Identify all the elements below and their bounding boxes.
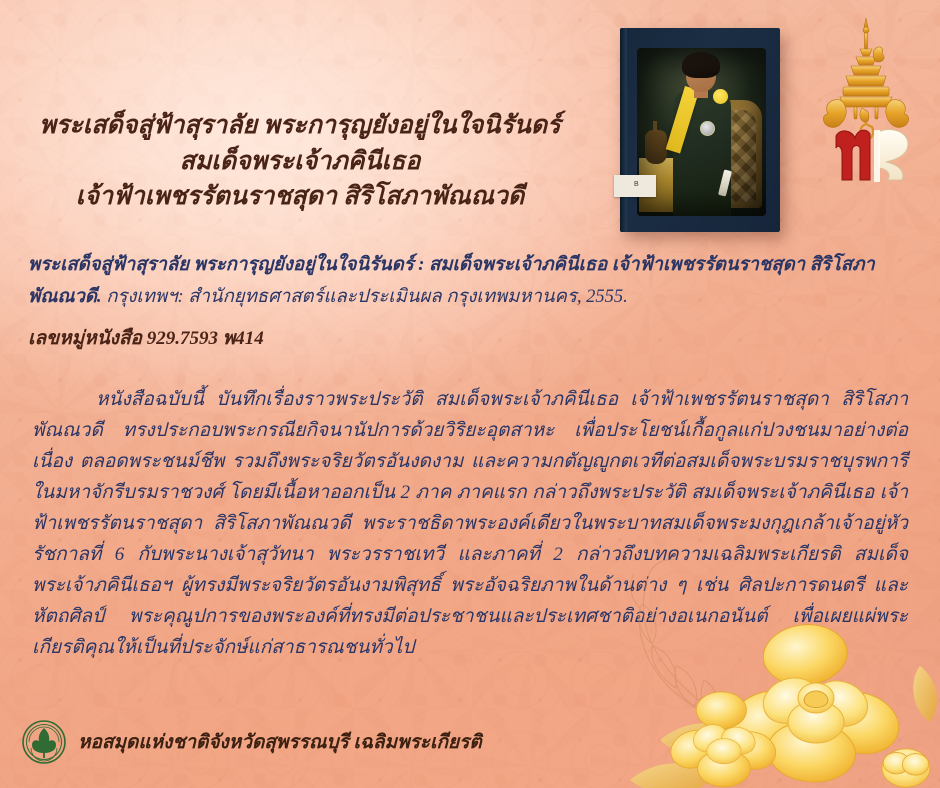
- bibliographic-citation: พระเสด็จสู่ฟ้าสุราลัย พระการุญยังอยู่ในใ…: [28, 250, 912, 314]
- national-library-seal-icon: [22, 720, 66, 764]
- book-cover-image: B: [620, 28, 780, 232]
- paragraph-text: หนังสือฉบับนี้ บันทึกเรื่องราวพระประวัติ…: [32, 389, 908, 658]
- title-line-3: เจ้าฟ้าเพชรรัตนราชสุดา สิริโสภาพัณณวดี: [0, 179, 600, 215]
- royal-cypher-emblem-icon: [822, 14, 930, 184]
- portrait-vignette: [637, 48, 766, 216]
- title-line-1: พระเสด็จสู่ฟ้าสุราลัย พระการุญยังอยู่ในใ…: [0, 108, 600, 144]
- book-spine-label: B: [614, 175, 656, 197]
- description-paragraph: หนังสือฉบับนี้ บันทึกเรื่องราวพระประวัติ…: [32, 384, 908, 663]
- footer-label: หอสมุดแห่งชาติจังหวัดสุพรรณบุรี เฉลิมพระ…: [78, 727, 482, 757]
- book-spine-label-text: B: [614, 175, 656, 188]
- citation-publication: กรุงเทพฯ: สำนักยุทธศาสตร์และประเมินผล กร…: [102, 287, 628, 307]
- call-number: เลขหมู่หนังสือ 929.7593 พ414: [28, 323, 628, 353]
- poster-canvas: B: [0, 0, 940, 788]
- book-spine: [620, 28, 627, 232]
- footer: หอสมุดแห่งชาติจังหวัดสุพรรณบุรี เฉลิมพระ…: [22, 720, 482, 764]
- page-title: พระเสด็จสู่ฟ้าสุราลัย พระการุญยังอยู่ในใ…: [0, 108, 600, 215]
- title-line-2: สมเด็จพระเจ้าภคินีเธอ: [0, 144, 600, 180]
- cover-portrait-photo: [637, 48, 766, 216]
